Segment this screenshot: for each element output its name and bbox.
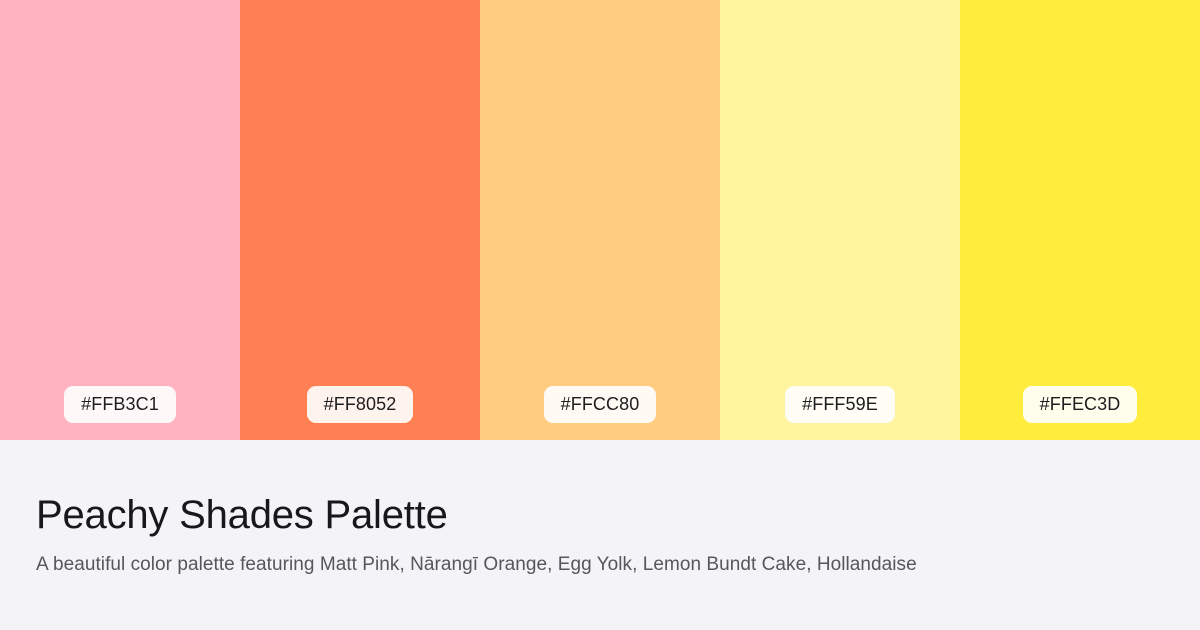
color-swatch-2[interactable]: #FF8052 — [240, 0, 480, 440]
color-palette-poster: #FFB3C1 #FF8052 #FFCC80 #FFF59E #FFEC3D … — [0, 0, 1200, 630]
color-hex-label[interactable]: #FFF59E — [785, 386, 895, 423]
palette-caption: Peachy Shades Palette A beautiful color … — [0, 440, 1200, 630]
swatch-strip: #FFB3C1 #FF8052 #FFCC80 #FFF59E #FFEC3D — [0, 0, 1200, 440]
color-swatch-3[interactable]: #FFCC80 — [480, 0, 720, 440]
palette-description: A beautiful color palette featuring Matt… — [36, 553, 1164, 578]
color-swatch-4[interactable]: #FFF59E — [720, 0, 960, 440]
color-hex-label[interactable]: #FFB3C1 — [64, 386, 176, 423]
color-swatch-5[interactable]: #FFEC3D — [960, 0, 1200, 440]
color-swatch-1[interactable]: #FFB3C1 — [0, 0, 240, 440]
color-hex-label[interactable]: #FF8052 — [307, 386, 414, 423]
color-hex-label[interactable]: #FFCC80 — [544, 386, 657, 423]
color-hex-label[interactable]: #FFEC3D — [1023, 386, 1138, 423]
palette-title: Peachy Shades Palette — [36, 493, 1164, 538]
